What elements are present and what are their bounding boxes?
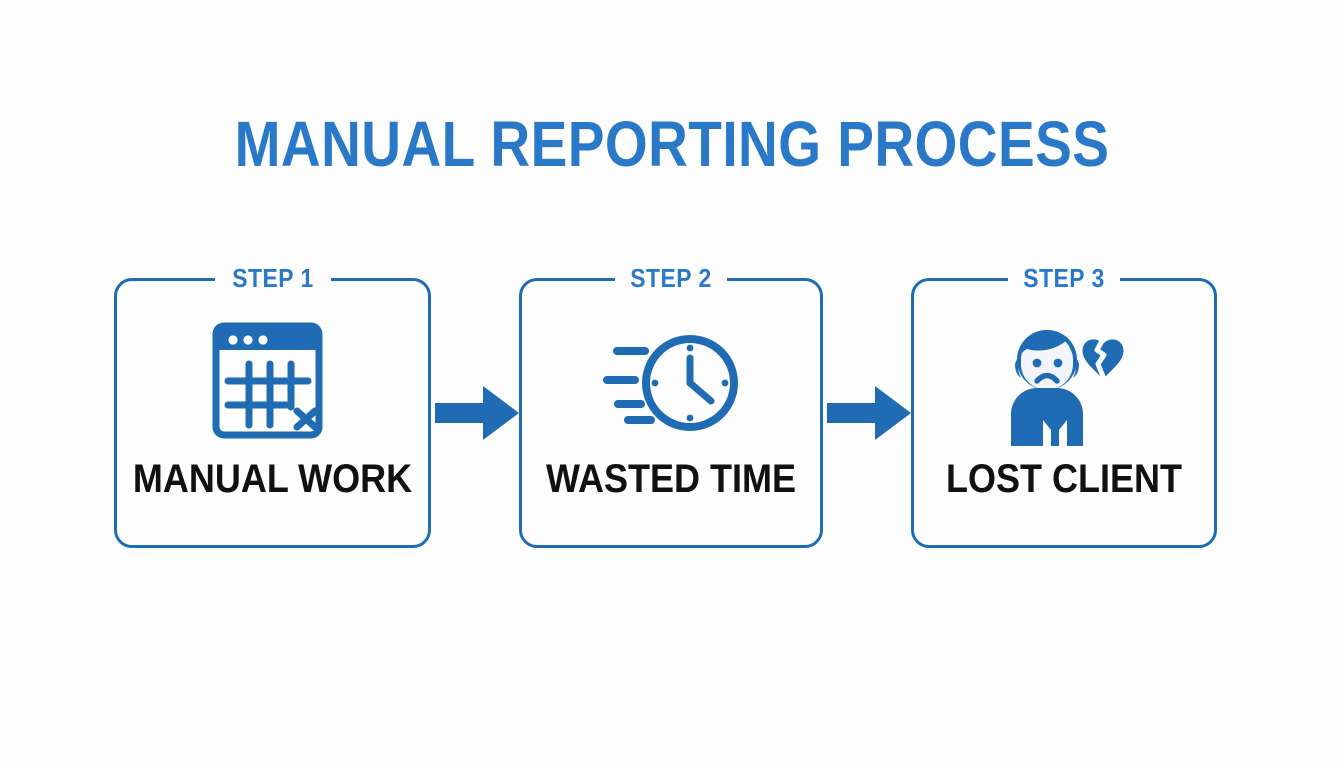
spreadsheet-window-error-icon (209, 321, 337, 445)
page-title: MANUAL REPORTING PROCESS (94, 108, 1250, 180)
step-caption-3: LOST CLIENT (929, 457, 1199, 501)
step-caption-1: MANUAL WORK (133, 457, 413, 501)
arrow-step1-to-step2 (435, 386, 519, 440)
infographic-canvas: MANUAL REPORTING PROCESS STEP 1 (0, 0, 1344, 768)
step-icon-2 (522, 315, 820, 451)
step-icon-1 (117, 315, 428, 451)
step-label-3: STEP 3 (1023, 263, 1105, 293)
step-label-2: STEP 2 (630, 263, 712, 293)
step-card-1[interactable]: STEP 1 (114, 278, 431, 548)
steps-row: STEP 1 (0, 262, 1344, 562)
arrow-step2-to-step3 (827, 386, 911, 440)
step-label-1: STEP 1 (232, 263, 314, 293)
step-icon-3 (914, 315, 1214, 451)
step-card-3[interactable]: STEP 3 (911, 278, 1217, 548)
step-card-2[interactable]: STEP 2 (519, 278, 823, 548)
clock-speed-lines-icon (601, 325, 741, 441)
arrow-right-icon (827, 386, 911, 440)
step-caption-2: WASTED TIME (537, 457, 805, 501)
arrow-right-icon (435, 386, 519, 440)
sad-person-broken-heart-icon (999, 320, 1129, 446)
